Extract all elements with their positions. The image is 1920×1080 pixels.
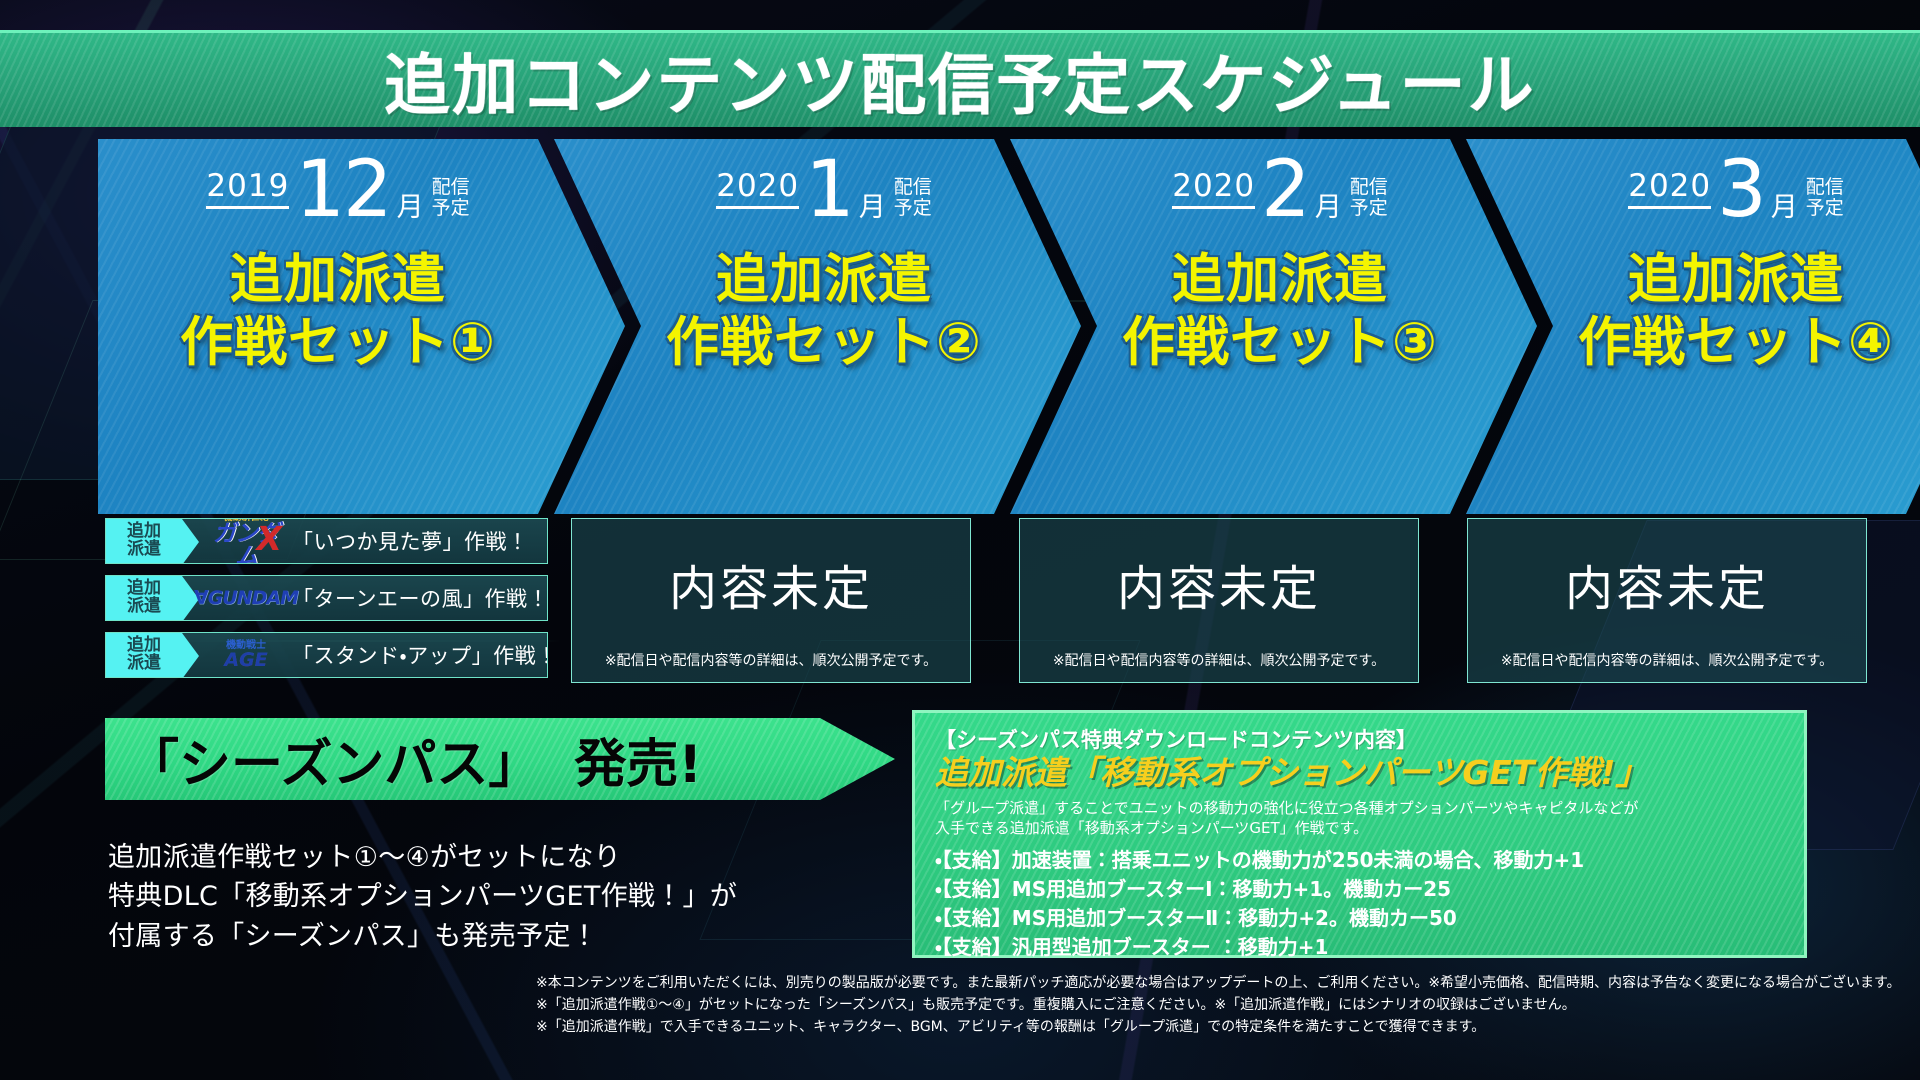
- schedule-title-line1-3: 追加派遣: [1172, 249, 1388, 310]
- schedule-note-1: 配信 予定: [432, 177, 470, 220]
- schedule-arrow-1[interactable]: 2019 12 月 配信 予定 追加派遣 作戦セット①: [98, 139, 625, 514]
- schedule-note-line1-1: 配信: [432, 176, 470, 198]
- schedule-note-3: 配信 予定: [1350, 177, 1388, 220]
- page-title: 追加コンテンツ配信予定スケジュール: [384, 32, 1535, 128]
- tbd-note: ※配信日や配信内容等の詳細は、順次公開予定です。: [1053, 650, 1385, 670]
- schedule-month-4: 3: [1717, 155, 1765, 225]
- benefits-heading: 【シーズンパス特典ダウンロードコンテンツ内容】: [935, 724, 1788, 754]
- gundam-x-logo-icon: 機動新世紀 ガンダム X: [208, 521, 284, 561]
- schedule-title-line1-1: 追加派遣: [230, 249, 446, 310]
- tbd-box-3: 内容未定 ※配信日や配信内容等の詳細は、順次公開予定です。: [1019, 518, 1419, 683]
- season-pass-banner-main: 「シーズンパス」: [127, 735, 540, 795]
- season-pass-banner: 「シーズンパス」発売!: [105, 718, 895, 800]
- schedule-note-line2-4: 予定: [1806, 197, 1844, 219]
- mission-list: 追加 派遣 機動新世紀 ガンダム X 「いつか見た夢」作戦！ 追加 派遣 ∀GU…: [105, 518, 548, 689]
- tbd-box-2: 内容未定 ※配信日や配信内容等の詳細は、順次公開予定です。: [571, 518, 971, 683]
- dispatch-tag-line2: 派遣: [127, 541, 161, 559]
- schedule-title-4: 追加派遣 作戦セット④: [1516, 249, 1920, 374]
- turn-a-gundam-logo-icon: ∀GUNDAM: [208, 578, 284, 618]
- dispatch-tag: 追加 派遣: [106, 519, 182, 563]
- benefits-item: ・【支給】加速装置：搭乗ユニットの機動力が250未満の場合、移動力+1: [935, 846, 1788, 875]
- schedule-note-line1-2: 配信: [894, 176, 932, 198]
- schedule-arrow-2[interactable]: 2020 1 月 配信 予定 追加派遣 作戦セット②: [554, 139, 1081, 514]
- schedule-date-4: 2020 3 月 配信 予定: [1516, 155, 1920, 225]
- tbd-note: ※配信日や配信内容等の詳細は、順次公開予定です。: [605, 650, 937, 670]
- schedule-year-3: 2020: [1172, 171, 1255, 209]
- schedule-date-2: 2020 1 月 配信 予定: [604, 155, 1044, 225]
- schedule-note-line1-3: 配信: [1350, 176, 1388, 198]
- benefits-subtext-line2: 入手できる追加派遣「移動系オプションパーツGET」作戦です。: [935, 818, 1788, 838]
- footnotes: ※本コンテンツをご利用いただくには、別売りの製品版が必要です。また最新パッチ適応…: [536, 972, 1881, 1038]
- schedule-note-line2-3: 予定: [1350, 197, 1388, 219]
- schedule-month-unit-1: 月: [397, 194, 424, 221]
- schedule-arrow-3[interactable]: 2020 2 月 配信 予定 追加派遣 作戦セット③: [1010, 139, 1537, 514]
- footnote-line: ※「追加派遣作戦①〜④」がセットになった「シーズンパス」も販売予定です。重複購入…: [536, 994, 1881, 1016]
- schedule-year-1: 2019: [206, 171, 289, 209]
- schedule-title-3: 追加派遣 作戦セット③: [1060, 249, 1500, 374]
- schedule-month-1: 12: [295, 155, 390, 225]
- schedule-arrow-row: 2019 12 月 配信 予定 追加派遣 作戦セット① 2020 1 月 配信 …: [0, 139, 1920, 514]
- tbd-box-4: 内容未定 ※配信日や配信内容等の詳細は、順次公開予定です。: [1467, 518, 1867, 683]
- schedule-title-line1-2: 追加派遣: [716, 249, 932, 310]
- schedule-title-line2-2: 作戦セット②: [666, 312, 982, 373]
- schedule-note-2: 配信 予定: [894, 177, 932, 220]
- page-title-banner: 追加コンテンツ配信予定スケジュール: [0, 30, 1920, 127]
- season-pass-description: 追加派遣作戦セット①〜④がセットになり 特典DLC「移動系オプションパーツGET…: [108, 838, 908, 956]
- schedule-note-line2-1: 予定: [432, 197, 470, 219]
- dispatch-tag: 追加 派遣: [106, 633, 182, 677]
- series-mark-label: X: [257, 522, 282, 555]
- season-pass-desc-line1: 追加派遣作戦セット①〜④がセットになり: [108, 838, 908, 877]
- season-pass-desc-line3: 付属する「シーズンパス」も発売予定！: [108, 917, 908, 956]
- mission-title: 「スタンド・アップ」作戦！: [284, 640, 548, 670]
- dispatch-tag-line2: 派遣: [127, 655, 161, 673]
- schedule-note-line1-4: 配信: [1806, 176, 1844, 198]
- schedule-title-1: 追加派遣 作戦セット①: [118, 249, 558, 374]
- mission-row[interactable]: 追加 派遣 ∀GUNDAM 「ターンエーの風」作戦！: [105, 575, 548, 621]
- gundam-age-logo-icon: 機動戦士 AGE: [208, 635, 284, 675]
- mission-row[interactable]: 追加 派遣 機動戦士 AGE 「スタンド・アップ」作戦！: [105, 632, 548, 678]
- series-mark-label: AGE: [224, 651, 267, 670]
- schedule-month-unit-3: 月: [1315, 194, 1342, 221]
- schedule-month-3: 2: [1261, 155, 1309, 225]
- tbd-label: 内容未定: [1117, 549, 1321, 619]
- benefits-item: ・【支給】MS用追加ブースターⅠ：移動力+1。機動カー25: [935, 875, 1788, 904]
- schedule-title-line2-4: 作戦セット④: [1578, 312, 1894, 373]
- schedule-date-1: 2019 12 月 配信 予定: [118, 155, 558, 225]
- series-main-label: ∀GUNDAM: [194, 587, 298, 609]
- schedule-month-unit-2: 月: [859, 194, 886, 221]
- season-pass-banner-text: 「シーズンパス」発売!: [105, 722, 702, 797]
- schedule-month-unit-4: 月: [1771, 194, 1798, 221]
- dispatch-tag: 追加 派遣: [106, 576, 182, 620]
- schedule-date-3: 2020 2 月 配信 予定: [1060, 155, 1500, 225]
- tbd-note: ※配信日や配信内容等の詳細は、順次公開予定です。: [1501, 650, 1833, 670]
- schedule-year-2: 2020: [716, 171, 799, 209]
- schedule-year-4: 2020: [1628, 171, 1711, 209]
- schedule-title-line1-4: 追加派遣: [1628, 249, 1844, 310]
- schedule-month-2: 1: [805, 155, 853, 225]
- mission-title: 「いつか見た夢」作戦！: [284, 526, 547, 556]
- benefits-item-list: ・【支給】加速装置：搭乗ユニットの機動力が250未満の場合、移動力+1 ・【支給…: [935, 846, 1788, 961]
- mission-title: 「ターンエーの風」作戦！: [284, 583, 548, 613]
- schedule-title-line2-3: 作戦セット③: [1122, 312, 1438, 373]
- schedule-title-2: 追加派遣 作戦セット②: [604, 249, 1044, 374]
- footnote-line: ※「追加派遣作戦」で入手できるユニット、キャラクター、BGM、アビリティ等の報酬…: [536, 1016, 1881, 1038]
- benefits-item: ・【支給】汎用型追加ブースター ：移動力+1: [935, 933, 1788, 962]
- benefits-subtext-line1: 「グループ派遣」することでユニットの移動力の強化に役立つ各種オプションパーツやキ…: [935, 798, 1788, 818]
- schedule-title-line2-1: 作戦セット①: [180, 312, 496, 373]
- benefits-item: ・【支給】MS用追加ブースターⅡ：移動力+2。機動カー50: [935, 904, 1788, 933]
- tbd-label: 内容未定: [1565, 549, 1769, 619]
- season-pass-banner-emphasis: 発売!: [574, 735, 702, 795]
- dispatch-tag-line2: 派遣: [127, 598, 161, 616]
- schedule-note-line2-2: 予定: [894, 197, 932, 219]
- benefits-title: 追加派遣「移動系オプションパーツGET作戦!」: [935, 755, 1788, 792]
- footnote-line: ※本コンテンツをご利用いただくには、別売りの製品版が必要です。また最新パッチ適応…: [536, 972, 1881, 994]
- schedule-note-4: 配信 予定: [1806, 177, 1844, 220]
- mission-row[interactable]: 追加 派遣 機動新世紀 ガンダム X 「いつか見た夢」作戦！: [105, 518, 548, 564]
- benefits-subtext: 「グループ派遣」することでユニットの移動力の強化に役立つ各種オプションパーツやキ…: [935, 798, 1788, 838]
- tbd-label: 内容未定: [669, 549, 873, 619]
- season-pass-desc-line2: 特典DLC「移動系オプションパーツGET作戦！」が: [108, 877, 908, 916]
- season-pass-benefits-box: 【シーズンパス特典ダウンロードコンテンツ内容】 追加派遣「移動系オプションパーツ…: [912, 710, 1807, 958]
